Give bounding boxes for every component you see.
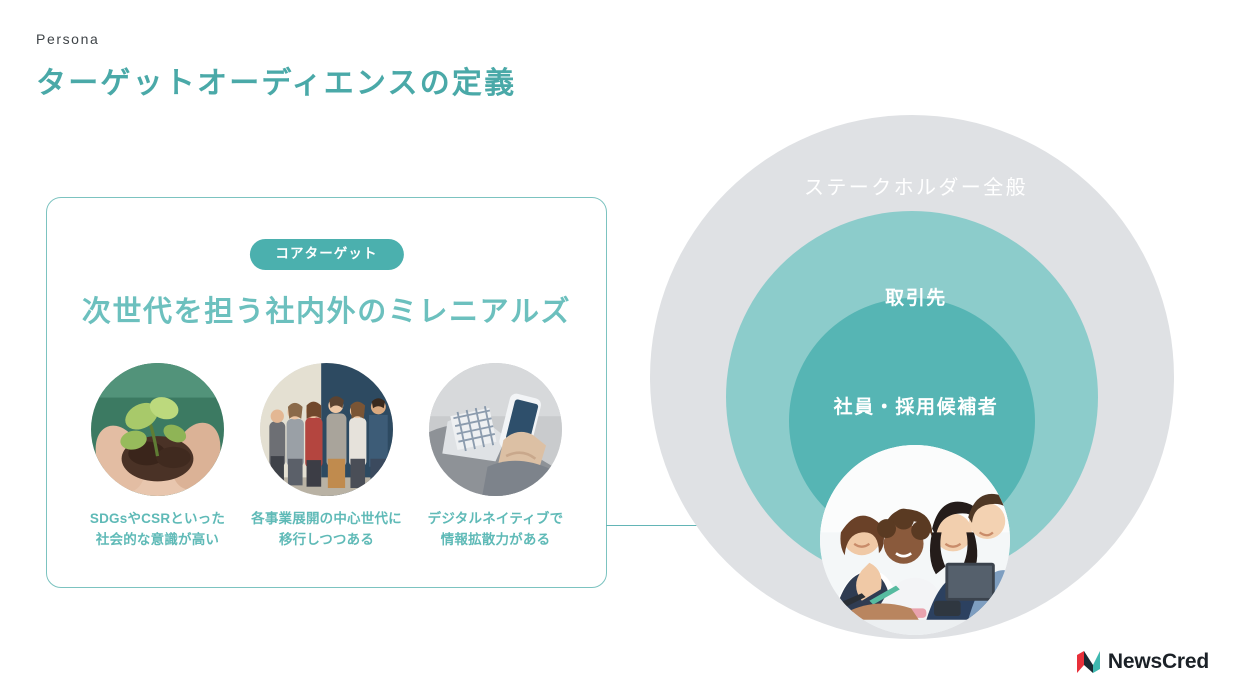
eyebrow-label: Persona	[36, 31, 99, 47]
hands-holding-smartphone-photo	[429, 363, 562, 496]
caption-line: 各事業展開の中心世代に	[251, 509, 402, 530]
caption-line: 移行しつつある	[251, 530, 402, 551]
newscred-logo: NewsCred	[1076, 650, 1209, 674]
newscred-logo-text: NewsCred	[1108, 650, 1209, 674]
list-item: デジタルネイティブで 情報拡散力がある	[415, 363, 576, 550]
list-item-caption: 各事業展開の中心世代に 移行しつつある	[251, 509, 402, 550]
core-target-badge: コアターゲット	[249, 239, 403, 270]
persona-trait-list: SDGsやCSRといった 社会的な意識が高い	[77, 363, 576, 550]
core-target-heading: 次世代を担う社内外のミレニアルズ	[47, 288, 606, 330]
hands-holding-seedling-photo	[91, 363, 224, 496]
list-item: SDGsやCSRといった 社会的な意識が高い	[77, 363, 238, 550]
group-of-young-people-photo	[260, 363, 393, 496]
core-target-card: コアターゲット 次世代を担う社内外のミレニアルズ	[46, 197, 607, 588]
stakeholder-circles-diagram: ステークホルダー全般 取引先 社員・採用候補者	[646, 108, 1186, 648]
list-item-caption: デジタルネイティブで 情報拡散力がある	[428, 509, 564, 550]
caption-line: 社会的な意識が高い	[90, 530, 225, 551]
list-item: 各事業展開の中心世代に 移行しつつある	[246, 363, 407, 550]
list-item-caption: SDGsやCSRといった 社会的な意識が高い	[90, 509, 225, 550]
page-title: ターゲットオーディエンスの定義	[36, 58, 516, 102]
caption-line: SDGsやCSRといった	[90, 509, 225, 530]
caption-line: 情報拡散力がある	[428, 530, 564, 551]
smiling-team-of-women-photo	[820, 445, 1010, 635]
caption-line: デジタルネイティブで	[428, 509, 564, 530]
slide-canvas: Persona ターゲットオーディエンスの定義 コアターゲット 次世代を担う社内…	[0, 0, 1236, 696]
newscred-logo-mark	[1076, 650, 1101, 674]
